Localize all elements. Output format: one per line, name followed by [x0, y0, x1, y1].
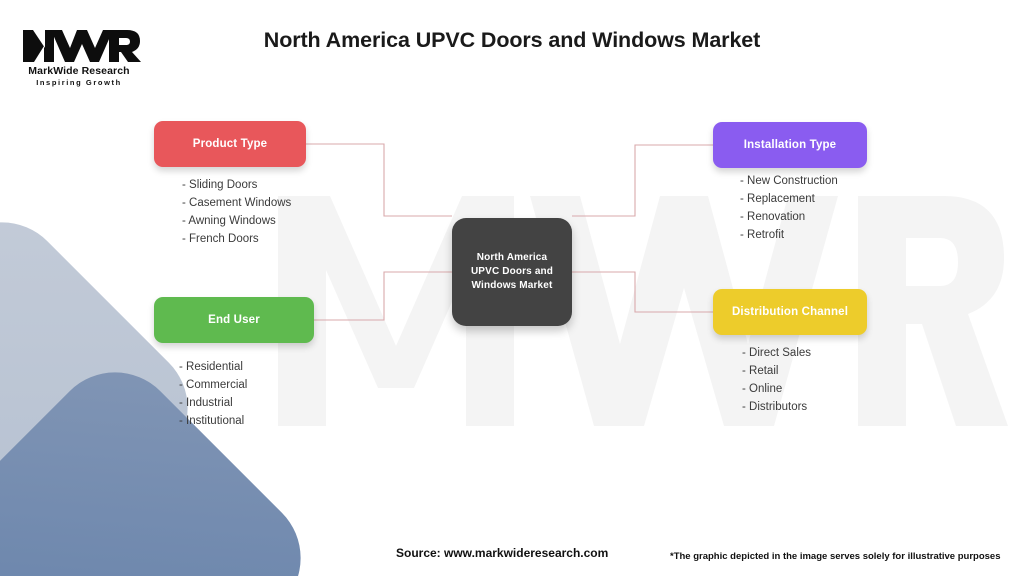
disclaimer-label: *The graphic depicted in the image serve… [670, 551, 1001, 562]
branch-list-installation-type: - New Construction - Replacement - Renov… [740, 172, 838, 244]
list-item: - Awning Windows [182, 212, 291, 230]
center-node: North America UPVC Doors and Windows Mar… [452, 218, 572, 326]
list-item: - Industrial [179, 394, 247, 412]
list-item: - Sliding Doors [182, 176, 291, 194]
list-item: - Renovation [740, 208, 838, 226]
branch-label-distribution-channel: Distribution Channel [732, 306, 848, 318]
branch-node-end-user[interactable]: End User [154, 297, 314, 343]
list-item: - Commercial [179, 376, 247, 394]
branch-node-distribution-channel[interactable]: Distribution Channel [713, 289, 867, 335]
center-node-label: North America UPVC Doors and Windows Mar… [452, 251, 572, 294]
list-item: - Direct Sales [742, 344, 811, 362]
list-item: - Replacement [740, 190, 838, 208]
list-item: - New Construction [740, 172, 838, 190]
source-label: Source: www.markwideresearch.com [396, 546, 608, 560]
infographic-canvas: MarkWide Research Inspiring Growth North… [0, 0, 1024, 576]
list-item: - Casement Windows [182, 194, 291, 212]
brand-tagline: Inspiring Growth [17, 78, 141, 87]
list-item: - French Doors [182, 230, 291, 248]
branch-label-end-user: End User [208, 314, 260, 326]
list-item: - Retrofit [740, 226, 838, 244]
branch-list-distribution-channel: - Direct Sales - Retail - Online - Distr… [742, 344, 811, 416]
branch-label-product-type: Product Type [193, 138, 267, 150]
list-item: - Distributors [742, 398, 811, 416]
branch-node-installation-type[interactable]: Installation Type [713, 122, 867, 168]
list-item: - Online [742, 380, 811, 398]
list-item: - Retail [742, 362, 811, 380]
list-item: - Residential [179, 358, 247, 376]
branch-node-product-type[interactable]: Product Type [154, 121, 306, 167]
brand-name: MarkWide Research [17, 65, 141, 77]
page-title: North America UPVC Doors and Windows Mar… [0, 28, 1024, 53]
branch-list-product-type: - Sliding Doors - Casement Windows - Awn… [182, 176, 291, 248]
branch-label-installation-type: Installation Type [744, 139, 836, 151]
branch-list-end-user: - Residential - Commercial - Industrial … [179, 358, 247, 430]
list-item: - Institutional [179, 412, 247, 430]
